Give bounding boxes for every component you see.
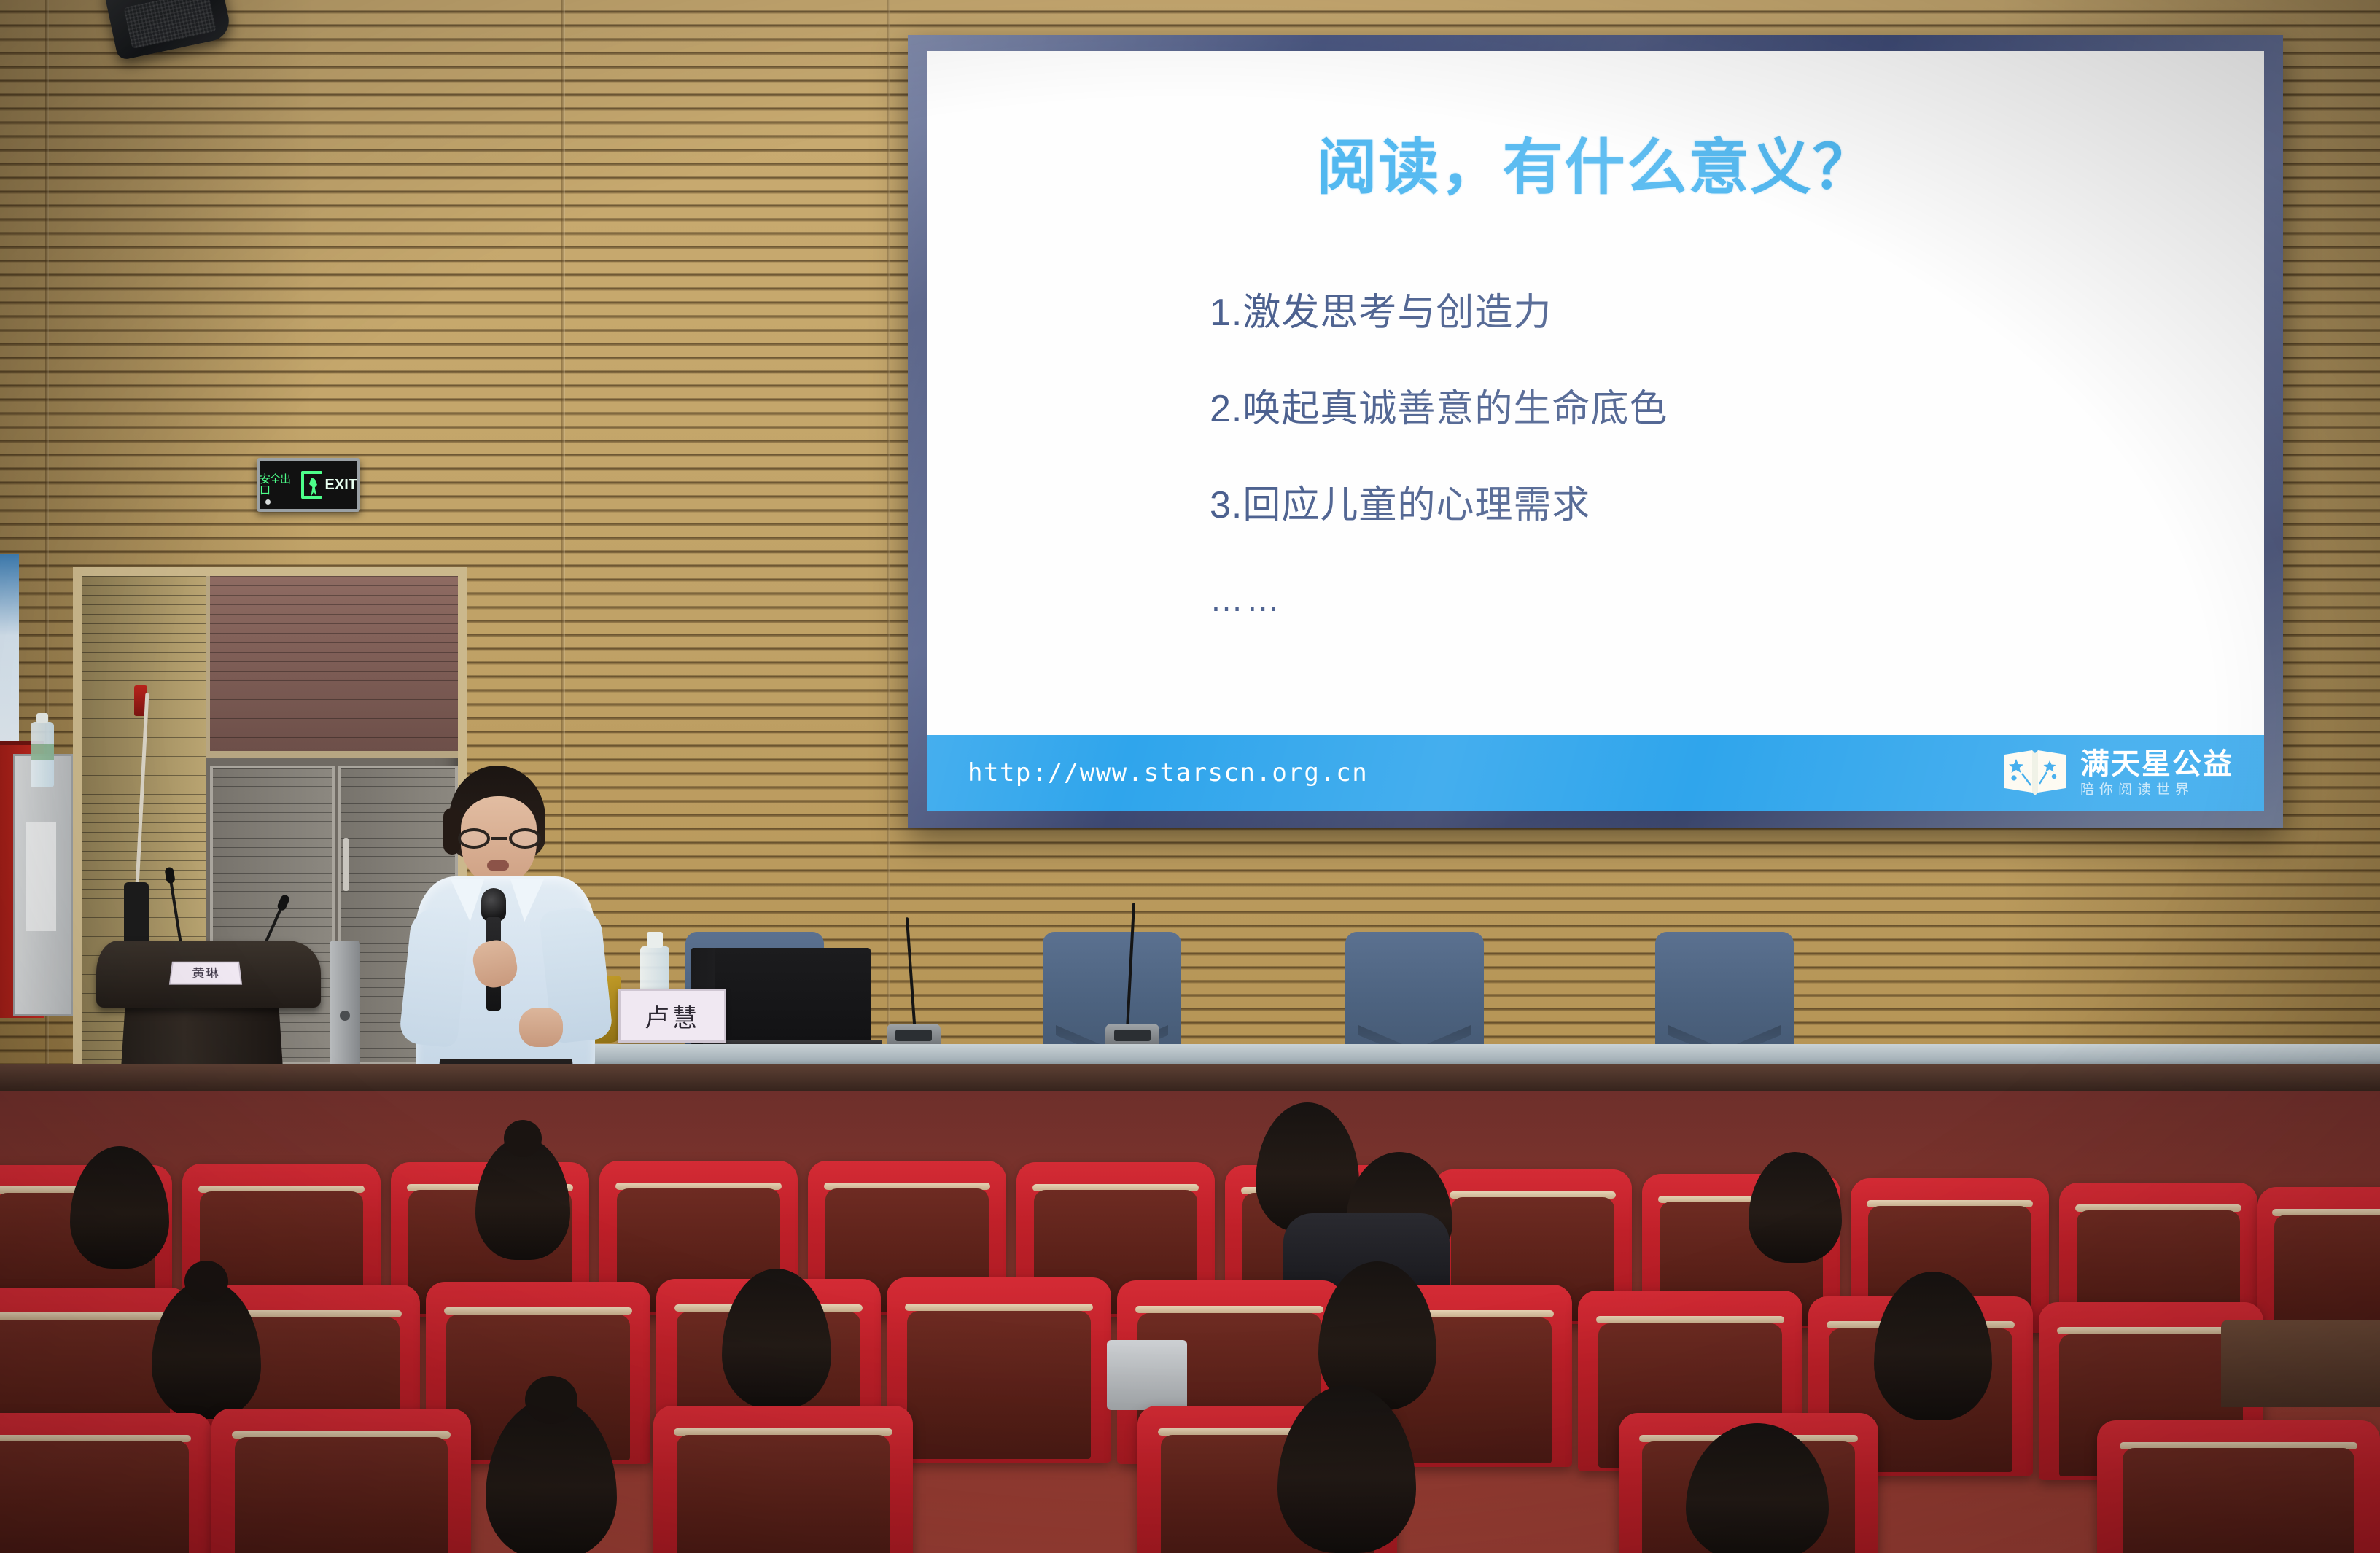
wall-handset bbox=[124, 882, 149, 945]
audience-seat bbox=[2097, 1420, 2380, 1553]
seat-cushion bbox=[0, 1441, 189, 1553]
head-table-name-card: 卢慧 bbox=[618, 989, 726, 1043]
mic-base-screen bbox=[1114, 1030, 1151, 1041]
door-transom-panel bbox=[206, 576, 458, 758]
brand-slogan: 陪你阅读世界 bbox=[2080, 783, 2194, 797]
seat-cushion bbox=[677, 1435, 890, 1553]
seat-piping bbox=[905, 1304, 1094, 1311]
slide-bullet-2: 2.唤起真诚善意的生命底色 bbox=[1210, 388, 2213, 430]
presentation-slide: 阅读，有什么意义？ 1.激发思考与创造力 2.唤起真诚善意的生命底色 3.回应儿… bbox=[927, 51, 2264, 811]
exit-sign-english-label: EXIT bbox=[325, 478, 357, 492]
folding-writing-tablet bbox=[1107, 1340, 1187, 1410]
mic-base-screen bbox=[895, 1030, 932, 1041]
exit-sign-indicator-led bbox=[265, 499, 271, 505]
slide-footer-url: http://www.starscn.org.cn bbox=[968, 758, 1368, 787]
wall-microphone-box bbox=[330, 941, 360, 1070]
seat-piping bbox=[0, 1312, 172, 1320]
speaker-grille bbox=[124, 0, 217, 49]
lectern-top: 黄琳 bbox=[96, 941, 321, 1008]
exit-sign: 安全出口 EXIT bbox=[257, 458, 360, 512]
audience-seat bbox=[0, 1413, 211, 1553]
projection-screen-frame: 阅读，有什么意义？ 1.激发思考与创造力 2.唤起真诚善意的生命底色 3.回应儿… bbox=[908, 35, 2283, 828]
brand-lockup: 满天星公益 陪你阅读世界 bbox=[2002, 749, 2233, 797]
running-person-exit-icon bbox=[301, 471, 322, 499]
audience-seat bbox=[653, 1406, 913, 1553]
seat-cushion bbox=[907, 1311, 1092, 1459]
glasses-bridge bbox=[491, 837, 507, 840]
seat-piping bbox=[2057, 1327, 2246, 1334]
audience-seat bbox=[211, 1409, 471, 1553]
slide-bullet-3: 3.回应儿童的心理需求 bbox=[1210, 484, 2213, 526]
lectern-name-card: 黄琳 bbox=[169, 962, 242, 985]
audience-seat bbox=[2257, 1187, 2380, 1342]
folding-writing-tablet bbox=[2221, 1320, 2380, 1407]
stage-edge bbox=[0, 1064, 2380, 1091]
grey-equipment-cabinet bbox=[13, 754, 73, 1016]
audience-seat bbox=[887, 1277, 1111, 1463]
auditorium-photo: 安全出口 EXIT 阅读，有什么意义？ 1.激发思考与创造力 2.唤起真诚善意的… bbox=[0, 0, 2380, 1553]
seat-cushion bbox=[2123, 1448, 2354, 1553]
laptop bbox=[715, 948, 871, 1043]
slide-bullet-1: 1.激发思考与创造力 bbox=[1210, 292, 2213, 334]
water-bottle bbox=[31, 722, 54, 787]
presenter-hand-right bbox=[519, 1008, 563, 1047]
wall-seam bbox=[887, 0, 890, 1064]
seat-cushion bbox=[235, 1437, 448, 1553]
seat-piping bbox=[444, 1307, 633, 1315]
brand-name: 满天星公益 bbox=[2080, 750, 2233, 779]
brand-text-block: 满天星公益 陪你阅读世界 bbox=[2080, 750, 2233, 797]
glasses-icon bbox=[456, 828, 542, 849]
glasses-lens-right bbox=[509, 828, 541, 849]
cabinet-label bbox=[26, 822, 56, 931]
door-handle[interactable] bbox=[343, 838, 349, 891]
wall-mic-dot bbox=[340, 1011, 350, 1021]
seat-piping bbox=[1596, 1316, 1785, 1323]
slide-bullet-list: 1.激发思考与创造力 2.唤起真诚善意的生命底色 3.回应儿童的心理需求 …… bbox=[1210, 292, 2213, 618]
open-book-with-stars-icon bbox=[2002, 749, 2069, 797]
exit-sign-chinese-label: 安全出口 bbox=[260, 474, 298, 496]
slide-footer-bar: http://www.starscn.org.cn bbox=[927, 735, 2264, 811]
slide-title: 阅读，有什么意义？ bbox=[978, 118, 2213, 206]
slide-body: 阅读，有什么意义？ 1.激发思考与创造力 2.唤起真诚善意的生命底色 3.回应儿… bbox=[927, 51, 2264, 735]
presenter-mouth bbox=[487, 860, 509, 871]
seat-piping bbox=[1135, 1306, 1324, 1313]
glasses-lens-left bbox=[458, 828, 490, 849]
slide-bullet-ellipsis: …… bbox=[1210, 581, 2213, 619]
